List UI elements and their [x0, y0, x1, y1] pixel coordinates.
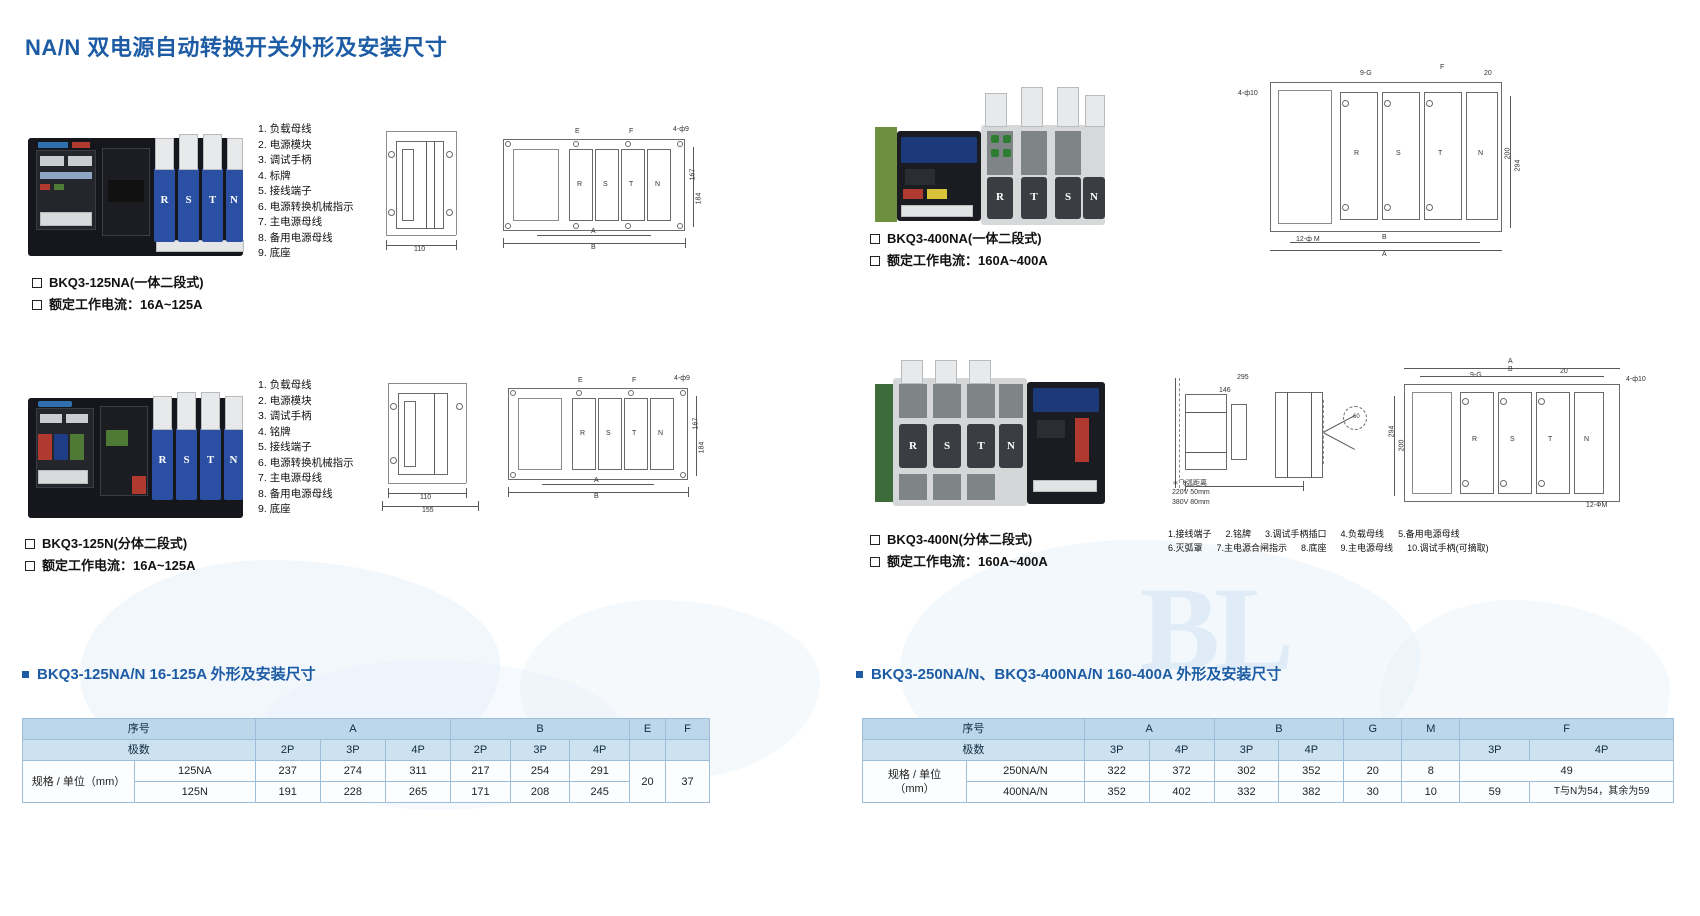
header-cell: A	[255, 719, 451, 740]
value-cell-e: 20	[630, 761, 666, 803]
caption-bkq3-400na: BKQ3-400NA(一体二段式) 额定工作电流：160A~400A	[870, 228, 1048, 272]
caption-current: 额定工作电流：16A~125A	[49, 297, 203, 312]
header-cell: 极数	[23, 740, 256, 761]
checkbox-icon	[25, 561, 35, 571]
value-cell: 30	[1344, 782, 1402, 803]
header-cell: M	[1402, 719, 1460, 740]
checkbox-icon	[32, 300, 42, 310]
dim-label: F	[1440, 64, 1444, 71]
dim-label: 200	[1504, 148, 1511, 160]
value-cell: 291	[570, 761, 630, 782]
product-photo-bkq3-400na: R T S N	[875, 65, 1105, 230]
dim-label: 60	[1353, 414, 1360, 420]
phase-label: N	[1083, 191, 1105, 203]
header-cell: 4P	[570, 740, 630, 761]
value-cell: 382	[1279, 782, 1344, 803]
header-cell: G	[1344, 719, 1402, 740]
legend-item: 4. 铭牌	[258, 425, 354, 441]
legend-item: 3.调试手柄插口	[1265, 527, 1327, 541]
value-cell: 171	[451, 782, 511, 803]
legend-item: 8.底座	[1301, 541, 1327, 555]
product-photo-bkq3-125n: R S T N	[28, 378, 243, 528]
header-cell: 4P	[1530, 740, 1674, 761]
phase-label: S	[603, 181, 608, 188]
legend-bkq3-125n: 1. 负载母线 2. 电源模块 3. 调试手柄 4. 铭牌 5. 接线端子 6.…	[258, 378, 354, 518]
header-cell	[630, 740, 666, 761]
legend-item: 4.负载母线	[1341, 527, 1385, 541]
header-cell: 3P	[510, 740, 570, 761]
value-cell-f: 37	[666, 761, 710, 803]
table-row: 规格 / 单位（mm） 125NA 237 274 311 217 254 29…	[23, 761, 710, 782]
legend-item: 7. 主电源母线	[258, 471, 354, 487]
header-cell: 4P	[1279, 740, 1344, 761]
dim-label: B	[591, 244, 596, 251]
value-cell: 274	[320, 761, 385, 782]
header-cell: 3P	[1214, 740, 1279, 761]
legend-item: 7. 主电源母线	[258, 215, 354, 231]
legend-item: 4. 标牌	[258, 169, 354, 185]
legend-item: 1. 负载母线	[258, 378, 354, 394]
dim-label: 155	[422, 507, 434, 514]
dim-label: 184	[698, 442, 705, 454]
value-cell: 10	[1402, 782, 1460, 803]
arc-note-title: ＊飞弧距离	[1172, 478, 1207, 488]
dim-label: 167	[692, 418, 699, 430]
legend-item: 3. 调试手柄	[258, 409, 354, 425]
phase-label: R	[580, 430, 585, 437]
phase-label: R	[152, 454, 173, 466]
phase-label: S	[178, 194, 199, 206]
drawing-front-view-125n: R S T N B A E F 4-ф9 167 184	[500, 372, 700, 512]
caption-current: 额定工作电流：16A~125A	[42, 558, 196, 573]
dim-label: 20	[1560, 368, 1568, 375]
phase-label: S	[933, 440, 961, 452]
model-cell: 400NA/N	[967, 782, 1085, 803]
dim-label: 110	[414, 246, 425, 253]
value-cell: 265	[385, 782, 450, 803]
unit-label-line1: 规格 / 单位	[888, 769, 941, 781]
legend-item: 6. 电源转换机械指示	[258, 456, 354, 472]
legend-item: 1.接线端子	[1168, 527, 1212, 541]
phase-label: S	[1055, 191, 1081, 203]
checkbox-icon	[32, 278, 42, 288]
page-title: NA/N 双电源自动转换开关外形及安装尺寸	[25, 30, 447, 62]
phase-label: N	[999, 440, 1023, 452]
dim-label: 4-ф9	[673, 126, 689, 133]
product-photo-bkq3-125na: R S T N	[28, 120, 243, 265]
phase-label: T	[1438, 150, 1442, 157]
value-cell: 372	[1149, 761, 1214, 782]
legend-item: 6.灭弧罩	[1168, 541, 1203, 555]
legend-item: 5. 接线端子	[258, 184, 354, 200]
header-cell: B	[451, 719, 630, 740]
dim-label: 295	[1237, 374, 1249, 381]
dim-label: 4-ф10	[1626, 376, 1646, 383]
model-cell: 125NA	[135, 761, 256, 782]
header-cell: 2P	[451, 740, 511, 761]
phase-label: R	[1472, 436, 1477, 443]
dim-label: 9-G	[1360, 70, 1372, 77]
phase-label: R	[577, 181, 582, 188]
value-cell: 352	[1084, 782, 1149, 803]
arc-note-line: 380V 80mm	[1172, 499, 1210, 506]
dim-label: 110	[420, 494, 431, 501]
legend-item: 9. 底座	[258, 246, 354, 262]
phase-label: T	[629, 181, 633, 188]
section-heading-text: BKQ3-250NA/N、BKQ3-400NA/N 160-400A 外形及安装…	[871, 666, 1281, 683]
dim-label: A	[591, 228, 596, 235]
section-heading-400: BKQ3-250NA/N、BKQ3-400NA/N 160-400A 外形及安装…	[856, 663, 1281, 684]
phase-label: T	[967, 440, 995, 452]
value-cell: 311	[385, 761, 450, 782]
table-header-row: 极数 2P 3P 4P 2P 3P 4P	[23, 740, 710, 761]
header-cell: 序号	[863, 719, 1085, 740]
value-cell: 59	[1460, 782, 1530, 803]
caption-current: 额定工作电流：160A~400A	[887, 253, 1048, 268]
value-cell: 302	[1214, 761, 1279, 782]
value-cell: 237	[255, 761, 320, 782]
value-cell: 191	[255, 782, 320, 803]
header-cell: F	[1460, 719, 1674, 740]
header-cell: 3P	[320, 740, 385, 761]
caption-model: BKQ3-125NA(一体二段式)	[49, 275, 204, 290]
caption-bkq3-125n: BKQ3-125N(分体二段式) 额定工作电流：16A~125A	[25, 533, 196, 577]
phase-label: R	[987, 191, 1013, 203]
header-cell: 极数	[863, 740, 1085, 761]
arc-note-line: 220V 50mm	[1172, 489, 1210, 496]
phase-label: S	[606, 430, 611, 437]
value-cell: 322	[1084, 761, 1149, 782]
phase-label: N	[1584, 436, 1589, 443]
caption-model: BKQ3-400NA(一体二段式)	[887, 231, 1042, 246]
drawing-400na: R S T N 9-G F 20 4-ф10 12-ф M 200 294 A …	[1240, 62, 1520, 262]
phase-label: S	[1510, 436, 1515, 443]
section-heading-125: BKQ3-125NA/N 16-125A 外形及安装尺寸	[22, 663, 316, 684]
table-125: 序号 A B E F 极数 2P 3P 4P 2P 3P 4P 规格 / 单位（…	[22, 718, 710, 803]
value-cell: 332	[1214, 782, 1279, 803]
table-row: 400NA/N 352 402 332 382 30 10 59 T与N为54，…	[863, 782, 1674, 803]
checkbox-icon	[25, 539, 35, 549]
legend-item: 2. 电源模块	[258, 138, 354, 154]
phase-label: R	[154, 194, 175, 206]
legend-item: 1. 负载母线	[258, 122, 354, 138]
header-cell: 4P	[385, 740, 450, 761]
caption-bkq3-400n: BKQ3-400N(分体二段式) 额定工作电流：160A~400A	[870, 529, 1048, 573]
drawing-front-view-125na: R S T N B A E F 4-ф9 167 184	[497, 125, 697, 260]
table-header-row: 序号 A B G M F	[863, 719, 1674, 740]
value-cell: 352	[1279, 761, 1344, 782]
unit-label-cell: 规格 / 单位（mm）	[23, 761, 135, 803]
header-cell	[1344, 740, 1402, 761]
model-cell: 125N	[135, 782, 256, 803]
dim-label: 184	[695, 193, 702, 205]
caption-bkq3-125na: BKQ3-125NA(一体二段式) 额定工作电流：16A~125A	[32, 272, 204, 316]
table-header-row: 序号 A B E F	[23, 719, 710, 740]
header-cell: A	[1084, 719, 1214, 740]
legend-item: 9.主电源母线	[1341, 541, 1394, 555]
legend-item: 9. 底座	[258, 502, 354, 518]
section-heading-text: BKQ3-125NA/N 16-125A 外形及安装尺寸	[37, 666, 316, 683]
phase-label: N	[225, 194, 243, 206]
dim-label: 294	[1514, 160, 1521, 172]
value-cell: 20	[1344, 761, 1402, 782]
dim-label: F	[629, 128, 633, 135]
value-cell: 208	[510, 782, 570, 803]
product-photo-bkq3-400n: R S T N	[875, 360, 1105, 525]
legend-item: 2. 电源模块	[258, 394, 354, 410]
dim-label: A	[594, 477, 599, 484]
model-cell: 250NA/N	[967, 761, 1085, 782]
table-header-row: 极数 3P 4P 3P 4P 3P 4P	[863, 740, 1674, 761]
dim-label: 146	[1219, 387, 1231, 394]
value-cell: 8	[1402, 761, 1460, 782]
dim-label: A	[1382, 251, 1387, 258]
legend-bkq3-400n: 1.接线端子 2.铭牌 3.调试手柄插口 4.负载母线 5.备用电源母线 6.灭…	[1168, 527, 1489, 555]
legend-item: 5. 接线端子	[258, 440, 354, 456]
header-cell: F	[666, 719, 710, 740]
header-cell: 4P	[1149, 740, 1214, 761]
phase-label: S	[1396, 150, 1401, 157]
dim-label: E	[578, 377, 583, 384]
phase-label: N	[658, 430, 663, 437]
dim-label: A	[1508, 358, 1513, 365]
phase-label: T	[1021, 191, 1047, 203]
caption-model: BKQ3-400N(分体二段式)	[887, 532, 1032, 547]
dim-label: B	[1508, 366, 1513, 373]
phase-label: R	[899, 440, 927, 452]
phase-label: N	[655, 181, 660, 188]
dim-label: E	[575, 128, 580, 135]
header-cell: 2P	[255, 740, 320, 761]
table-400: 序号 A B G M F 极数 3P 4P 3P 4P 3P 4P 规格 / 单…	[862, 718, 1674, 803]
value-cell: 402	[1149, 782, 1214, 803]
value-cell-note: T与N为54，其余为59	[1530, 782, 1674, 803]
legend-item: 8. 备用电源母线	[258, 487, 354, 503]
legend-item: 2.铭牌	[1226, 527, 1252, 541]
drawing-side-view-125n: 110 155	[378, 375, 498, 515]
drawing-400n-arc: 60	[1265, 380, 1375, 500]
phase-label: N	[1478, 150, 1483, 157]
header-cell: 3P	[1460, 740, 1530, 761]
dim-label: F	[632, 377, 636, 384]
drawing-side-view-125na: 110	[378, 125, 483, 255]
legend-bkq3-125na: 1. 负载母线 2. 电源模块 3. 调试手柄 4. 标牌 5. 接线端子 6.…	[258, 122, 354, 262]
legend-item: 10.调试手柄(可摘取)	[1407, 541, 1489, 555]
checkbox-icon	[870, 535, 880, 545]
dim-label: 294	[1388, 426, 1395, 438]
legend-item: 7.主电源合闸指示	[1217, 541, 1288, 555]
checkbox-icon	[870, 557, 880, 567]
dim-label: 4-ф10	[1238, 90, 1258, 97]
dim-label: 200	[1398, 440, 1405, 452]
legend-item: 3. 调试手柄	[258, 153, 354, 169]
header-cell: 3P	[1084, 740, 1149, 761]
dim-label: B	[594, 493, 599, 500]
phase-label: T	[632, 430, 636, 437]
header-cell: E	[630, 719, 666, 740]
phase-label: T	[200, 454, 221, 466]
legend-item: 8. 备用电源母线	[258, 231, 354, 247]
phase-label: N	[224, 454, 243, 466]
dim-label: B	[1382, 234, 1387, 241]
bullet-square-icon	[22, 671, 29, 678]
dim-label: 4-ф9	[674, 375, 690, 382]
value-cell: 217	[451, 761, 511, 782]
caption-model: BKQ3-125N(分体二段式)	[42, 536, 187, 551]
value-cell: 245	[570, 782, 630, 803]
dim-label: 167	[689, 169, 696, 181]
dim-label: 20	[1484, 70, 1492, 77]
header-cell	[1402, 740, 1460, 761]
phase-label: T	[202, 194, 223, 206]
value-cell-f-span: 49	[1460, 761, 1674, 782]
bullet-square-icon	[856, 671, 863, 678]
value-cell: 228	[320, 782, 385, 803]
header-cell: B	[1214, 719, 1344, 740]
drawing-400n-front: R S T N 9-G 20 4-ф10 12-ФM 294 200 A B	[1390, 362, 1680, 512]
value-cell: 254	[510, 761, 570, 782]
header-cell	[666, 740, 710, 761]
unit-label-line2: （mm）	[894, 783, 934, 795]
phase-label: S	[176, 454, 197, 466]
checkbox-icon	[870, 256, 880, 266]
header-cell: 序号	[23, 719, 256, 740]
legend-item: 5.备用电源母线	[1398, 527, 1460, 541]
caption-current: 额定工作电流：160A~400A	[887, 554, 1048, 569]
phase-label: R	[1354, 150, 1359, 157]
phase-label: T	[1548, 436, 1552, 443]
dim-label: 12-ФM	[1586, 502, 1607, 509]
table-row: 规格 / 单位 （mm） 250NA/N 322 372 302 352 20 …	[863, 761, 1674, 782]
checkbox-icon	[870, 234, 880, 244]
legend-item: 6. 电源转换机械指示	[258, 200, 354, 216]
